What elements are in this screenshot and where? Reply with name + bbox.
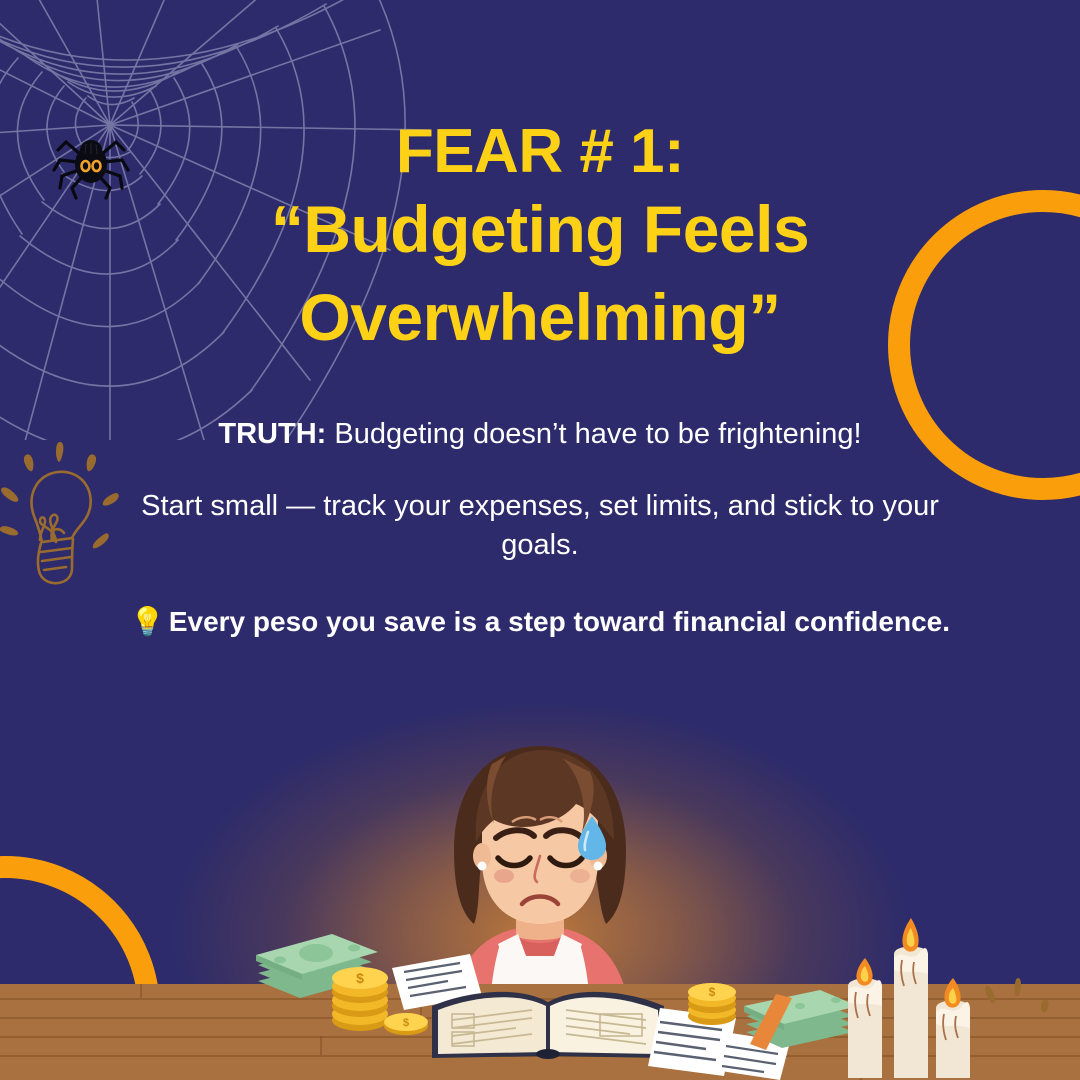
illustration-scene: $ $ xyxy=(0,680,1080,1080)
truth-text: Budgeting doesn’t have to be frightening… xyxy=(326,418,861,450)
banded-cash-stack xyxy=(744,990,858,1050)
truth-statement: TRUTH: Budgeting doesn’t have to be frig… xyxy=(0,416,1080,454)
headline-line-3: Overwhelming” xyxy=(0,274,1080,361)
page-title: FEAR # 1: “Budgeting Feels Overwhelming” xyxy=(0,119,1080,360)
coin-stack-right: $ xyxy=(688,983,736,1025)
closer-text: Every peso you save is a step toward fin… xyxy=(169,606,950,637)
candle-left xyxy=(848,958,882,1078)
desk-props-group: $ $ xyxy=(0,910,1080,1080)
candle-center xyxy=(894,918,928,1078)
closing-statement: 💡Every peso you save is a step toward fi… xyxy=(0,604,1080,640)
headline-line-2: “Budgeting Feels xyxy=(0,186,1080,273)
sparkle-marks-icon xyxy=(985,978,1049,1012)
text-content-block: FEAR # 1: “Budgeting Feels Overwhelming”… xyxy=(0,98,1080,669)
svg-text:$: $ xyxy=(709,985,716,999)
truth-label: TRUTH: xyxy=(218,418,326,450)
lightbulb-emoji-icon: 💡 xyxy=(130,606,165,637)
open-ledger-book xyxy=(432,992,664,1059)
svg-text:$: $ xyxy=(356,970,364,986)
advice-text: Start small — track your expenses, set l… xyxy=(0,487,1080,564)
candle-right xyxy=(936,978,970,1078)
poster-canvas: FEAR # 1: “Budgeting Feels Overwhelming”… xyxy=(0,0,1080,1080)
headline-line-1: FEAR # 1: xyxy=(0,119,1080,186)
svg-text:$: $ xyxy=(403,1017,409,1029)
